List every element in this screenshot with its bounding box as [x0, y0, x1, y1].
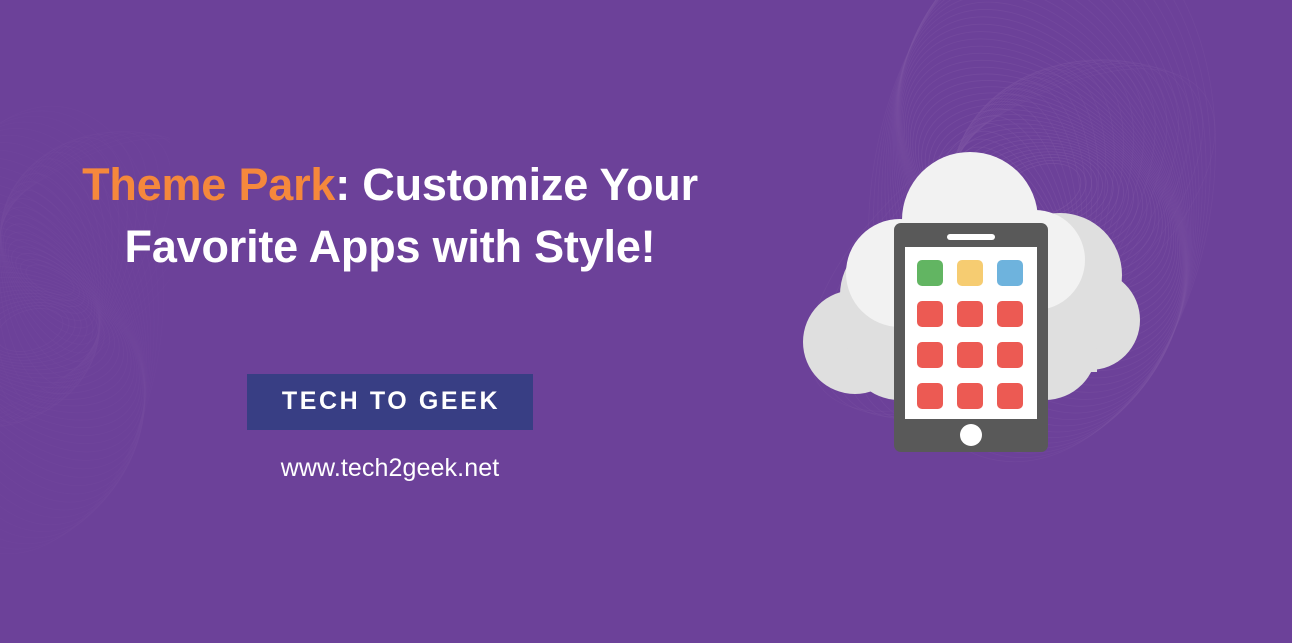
headline-line-1: Theme Park: Customize Your	[82, 159, 698, 210]
page-title: Theme Park: Customize Your Favorite Apps…	[0, 154, 780, 278]
tablet-speaker	[947, 234, 995, 240]
app-icon[interactable]	[997, 342, 1023, 368]
tablet-icon	[894, 223, 1048, 452]
headline-line-2: Favorite Apps with Style!	[125, 221, 656, 272]
app-icon[interactable]	[957, 342, 983, 368]
promo-banner: Theme Park: Customize Your Favorite Apps…	[0, 0, 1292, 643]
banner-copy: Theme Park: Customize Your Favorite Apps…	[0, 0, 780, 643]
app-icon[interactable]	[917, 260, 943, 286]
site-url-link[interactable]: www.tech2geek.net	[281, 454, 500, 483]
app-icon[interactable]	[957, 383, 983, 409]
headline-line-1-rest: : Customize Your	[335, 159, 698, 210]
app-icon[interactable]	[917, 301, 943, 327]
app-icon[interactable]	[957, 301, 983, 327]
tablet-home-button[interactable]	[960, 424, 982, 446]
app-icon[interactable]	[917, 342, 943, 368]
headline-accent-text: Theme Park	[82, 159, 335, 210]
app-icon[interactable]	[997, 260, 1023, 286]
app-icon[interactable]	[917, 383, 943, 409]
app-icon[interactable]	[997, 301, 1023, 327]
cloud-tablet-illustration	[792, 110, 1152, 470]
app-icon[interactable]	[957, 260, 983, 286]
app-icon[interactable]	[997, 383, 1023, 409]
tech-to-geek-badge[interactable]: TECH TO GEEK	[247, 374, 533, 430]
